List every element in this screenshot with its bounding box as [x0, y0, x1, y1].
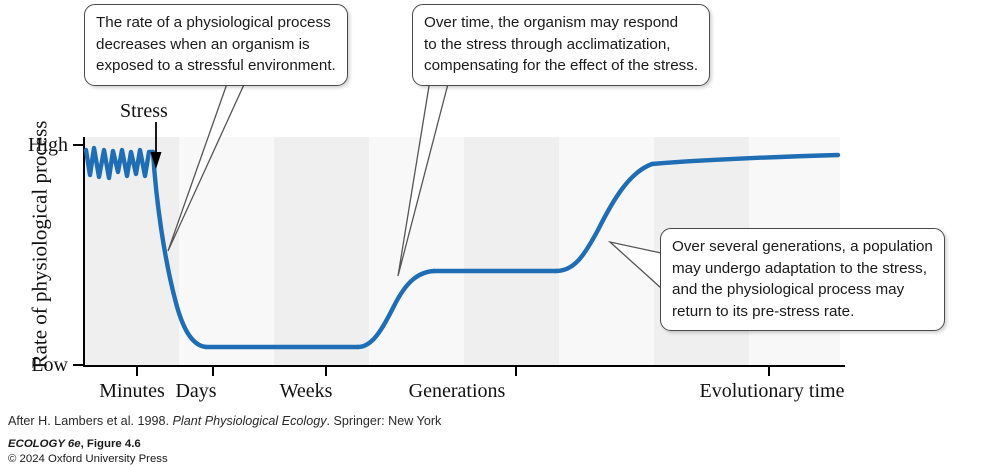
callout-acclimatization[interactable]: Over time, the organism may respond to t… [412, 4, 710, 86]
x-tick-label-evolutionary-time: Evolutionary time [672, 380, 872, 403]
y-tick-low [73, 364, 84, 366]
callout-line: Over several generations, a population [672, 236, 933, 258]
callout-line: may undergo adaptation to the stress, [672, 258, 933, 280]
credit-figure-number: , Figure 4.6 [81, 438, 141, 450]
copyright-notice: © 2024 Oxford University Press [8, 452, 168, 465]
callout-line: compensating for the effect of the stres… [424, 55, 698, 77]
source-suffix: . Springer: New York [327, 414, 442, 428]
x-tick-minutes [136, 366, 138, 376]
plot-band-weeks [369, 137, 464, 365]
x-tick-label-weeks: Weeks [258, 380, 354, 403]
plot-band-days [179, 137, 274, 365]
callout-stress-response[interactable]: The rate of a physiological process decr… [84, 4, 348, 86]
callout-adaptation[interactable]: Over several generations, a population m… [660, 228, 945, 331]
callout-line: return to its pre-stress rate. [672, 301, 933, 323]
callout-line: decreases when an organism is [96, 34, 336, 56]
callout-line: to the stress through acclimatization, [424, 34, 698, 56]
credit-figure-line: ECOLOGY 6e, Figure 4.6 [8, 437, 168, 452]
callout-line: and the physiological process may [672, 279, 933, 301]
x-tick-days [212, 366, 214, 376]
stress-marker-label: Stress [120, 100, 168, 123]
source-citation: After H. Lambers et al. 1998. Plant Phys… [8, 414, 441, 428]
x-axis-line [83, 365, 845, 367]
y-axis-title: Rate of physiological process [28, 95, 53, 395]
callout-line: The rate of a physiological process [96, 12, 336, 34]
figure-container: High Low Minutes Days Weeks Generations … [0, 0, 1000, 465]
callout-line: exposed to a stressful environment. [96, 55, 336, 77]
y-axis-line [83, 137, 85, 366]
source-title: Plant Physiological Ecology [173, 414, 327, 428]
x-tick-label-days: Days [156, 380, 236, 403]
plot-band-generations [559, 137, 654, 365]
x-tick-evolutionary-time [768, 366, 770, 376]
credit-book-title: ECOLOGY 6e [8, 438, 81, 450]
y-tick-high [73, 144, 84, 146]
credit-block: ECOLOGY 6e, Figure 4.6 © 2024 Oxford Uni… [8, 437, 168, 465]
x-tick-weeks [325, 366, 327, 376]
source-prefix: After H. Lambers et al. 1998. [8, 414, 173, 428]
x-tick-generations [515, 366, 517, 376]
callout-line: Over time, the organism may respond [424, 12, 698, 34]
x-tick-label-generations: Generations [382, 380, 532, 403]
